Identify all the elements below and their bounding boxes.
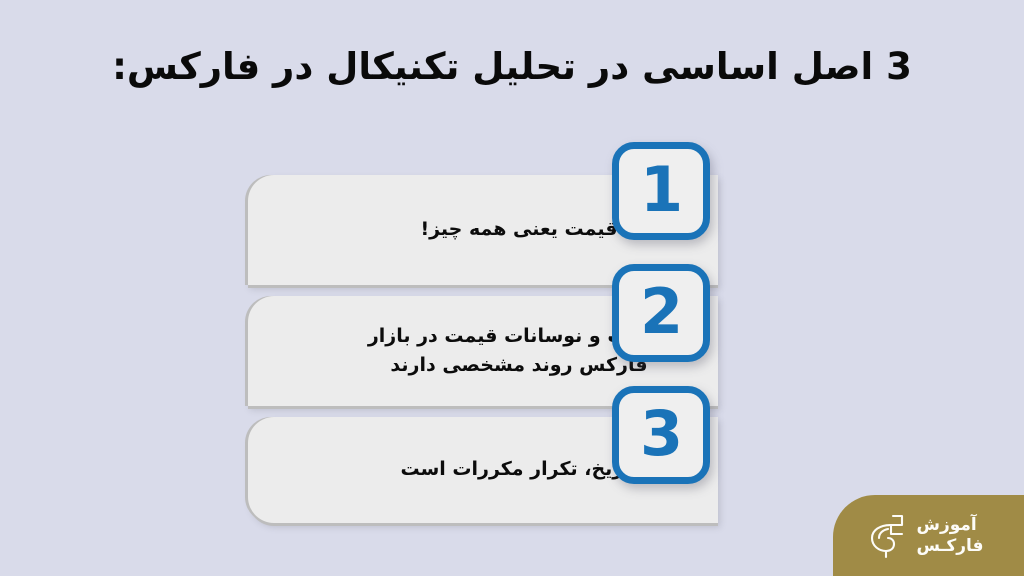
number-badge-2-icon: 2	[612, 264, 710, 362]
brand-line-2: فارکـس	[916, 536, 983, 556]
brand-line-1: آموزش	[916, 515, 976, 535]
badge-number-label-2: 2	[640, 281, 682, 343]
brand-logo: آموزش فارکـس	[833, 495, 1024, 576]
number-badge-3-icon: 3	[612, 386, 710, 484]
badge-number-label-3: 3	[640, 403, 682, 465]
page-title: 3 اصل اساسی در تحلیل تکنیکال در فارکس:	[0, 44, 1024, 90]
brand-logo-text: آموزش فارکـس	[916, 515, 983, 555]
abstract-monogram-icon	[867, 513, 905, 559]
infographic-canvas: 3 اصل اساسی در تحلیل تکنیکال در فارکس: ق…	[0, 0, 1024, 576]
badge-number-label-1: 1	[640, 159, 682, 221]
number-badge-1-icon: 1	[612, 142, 710, 240]
